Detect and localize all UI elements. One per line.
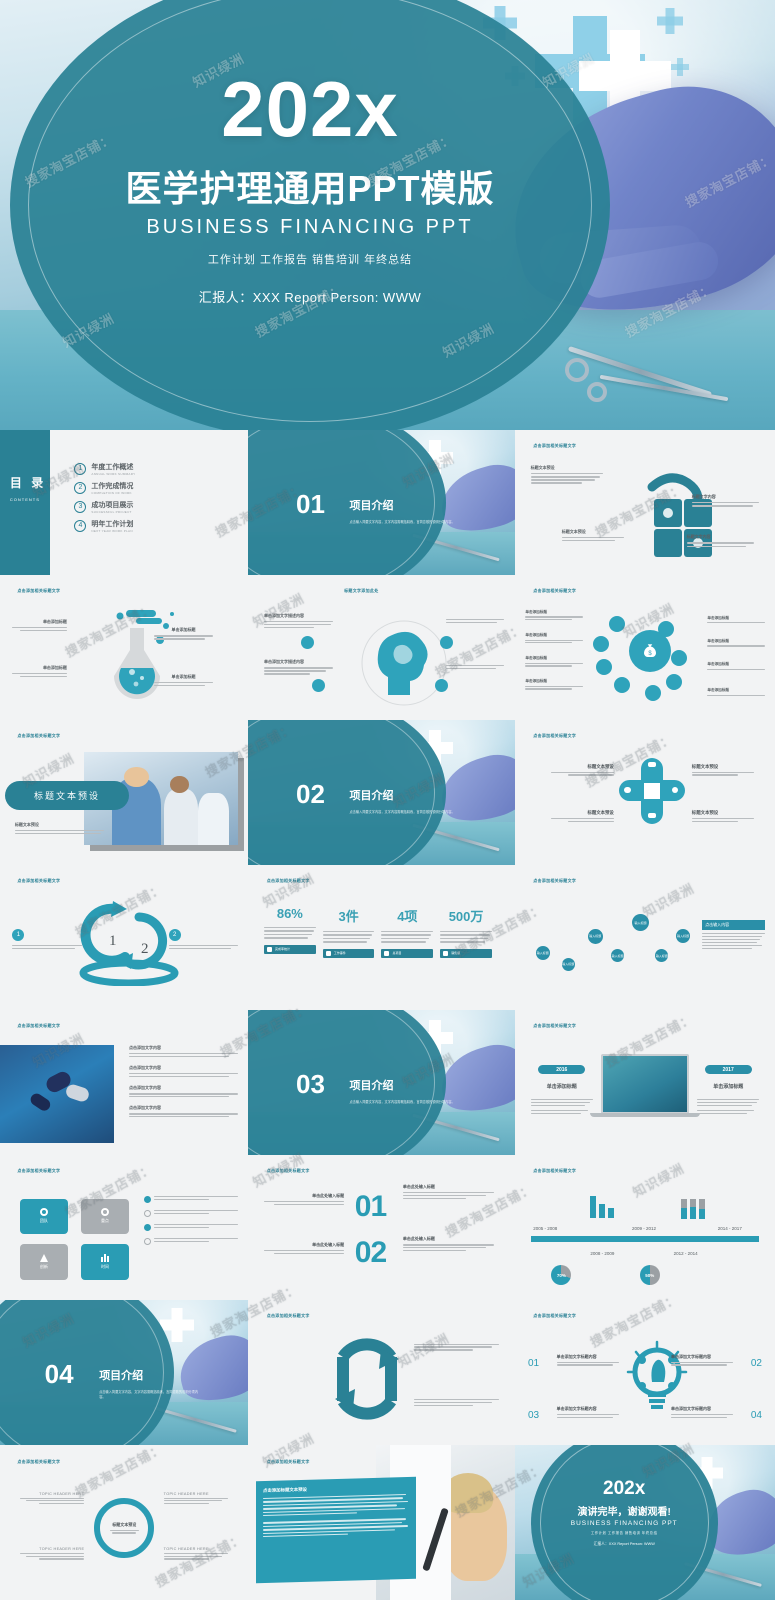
divider-ring	[248, 1010, 435, 1155]
slide-title: 点击添加相关标题文字	[17, 1168, 60, 1174]
card-icon	[645, 685, 661, 701]
book-icon	[614, 677, 630, 693]
contents-heading: 目 录	[10, 474, 46, 491]
bignum-text: 单击此处输入标题	[264, 1242, 344, 1254]
radial-label-text: 单击添加标题	[525, 679, 582, 684]
cross-label-group: 标题文本预设	[551, 810, 613, 822]
plus-icon	[144, 1196, 151, 1203]
bar	[690, 1199, 696, 1219]
section-number: 04	[45, 1361, 74, 1387]
pills-item-heading: 点击添加文字内容	[129, 1105, 238, 1111]
search-icon	[101, 1208, 109, 1216]
circular-arrow-icon	[317, 1329, 417, 1429]
thumbnail-row: 点击添加相关标题文字 标题文本预设 标题文本预设	[0, 720, 775, 865]
puzzle-label: 标题文字内容	[687, 534, 755, 540]
section-label: 项目介绍	[99, 1367, 143, 1383]
flask-label: 单击添加标题	[12, 665, 67, 671]
balloon-node[interactable]: 输入标题	[611, 949, 624, 962]
laptop-base	[590, 1113, 699, 1117]
year-badge-2016[interactable]: 2016	[538, 1065, 585, 1074]
slide-pills-photo[interactable]: 点击添加相关标题文字 点击添加文字内容 点击添加文字内容 点击添加文字内容	[0, 1010, 248, 1155]
quadrant-grid: 团队 重点 创新	[20, 1199, 129, 1280]
section-label: 项目介绍	[349, 1077, 393, 1093]
flask-label-group: 单击添加标题	[154, 627, 214, 640]
flask-label-group: 单击添加标题	[12, 665, 67, 678]
flask-label: 单击添加标题	[154, 627, 214, 633]
medical-cross-icon	[657, 8, 683, 34]
balloon-node[interactable]: 输入标题	[655, 949, 668, 962]
slide-section-02[interactable]: 02 项目介绍 点击输入简要文字内容，文字内容需概括精炼，言简意赅的说明分项内容…	[248, 720, 515, 865]
toc-label: 工作完成情况	[91, 481, 133, 491]
divider-ring	[248, 430, 435, 575]
ppt-template-preview: 202x 医学护理通用PPT模版 BUSINESS FINANCING PPT …	[0, 0, 775, 1600]
cross-label: 标题文本预设	[692, 810, 754, 816]
puzzle-label-group: 标题文本预设	[562, 529, 624, 542]
bar-group-right	[681, 1199, 705, 1219]
cross-label: 标题文本预设	[692, 764, 754, 770]
medical-cross-icon	[644, 783, 660, 799]
gear-icon	[671, 650, 687, 666]
calculator-icon	[609, 616, 625, 632]
badge-number: 1	[12, 929, 24, 941]
slide-title: 点击添加相关标题文字	[17, 1459, 60, 1465]
radial-label: 单击添加标题	[525, 679, 582, 689]
slide-puzzle-infographic[interactable]: 点击添加相关标题文字 标题文本预设	[515, 430, 775, 575]
radial-label-text: 单击添加标题	[525, 610, 582, 615]
bulb-heading: 单击添加文字标题内容	[671, 1406, 733, 1412]
section-number: 03	[296, 1071, 325, 1097]
quadrant-cell-team[interactable]: 团队	[20, 1199, 68, 1235]
toc-number: 4	[74, 520, 86, 532]
smile-icon	[624, 787, 631, 794]
stat-button[interactable]: 完成率统计	[264, 945, 316, 954]
flask-label: 单击添加标题	[12, 619, 67, 625]
big-number-01: 01	[355, 1193, 386, 1220]
balloon-side-panel: 点击输入内容	[702, 920, 764, 949]
closing-year: 202x	[531, 1479, 718, 1498]
slide-key-stats[interactable]: 点击添加相关标题文字 86% 完成率统计	[248, 865, 515, 1010]
list-item[interactable]	[144, 1238, 238, 1245]
divider-ring	[248, 720, 435, 865]
quadrant-label: 团队	[40, 1218, 48, 1224]
slide-closing[interactable]: 202x 演讲完毕，谢谢观看! BUSINESS FINANCING PPT 工…	[515, 1445, 775, 1600]
topics-center-label: 标题文本预设	[112, 1522, 136, 1528]
radial-label: 单击添加标题	[525, 633, 582, 643]
section-description: 点击输入简要文字内容，文字内容需概括精炼，言简意赅的说明分项内容。	[349, 1100, 472, 1105]
bignum-heading: 单击此处输入标题	[264, 1242, 344, 1248]
laptop-screen-photo	[603, 1056, 687, 1113]
bar	[699, 1199, 705, 1219]
radial-label: 单击添加标题	[525, 656, 582, 666]
bulb-heading: 单击添加文字标题内容	[671, 1354, 733, 1360]
brain-label-group	[446, 665, 505, 670]
balloon-node[interactable]: 输入标题	[536, 946, 550, 960]
flask-label-group: 单击添加标题	[12, 619, 67, 632]
slide-dual-arrows[interactable]: 点击添加相关标题文字 1 2 1 2	[0, 865, 248, 1010]
toc-label-en: COMPLETION OF WORK	[91, 491, 133, 495]
quadrant-cell-focus[interactable]: 重点	[81, 1199, 129, 1235]
stat-icon	[326, 951, 331, 956]
bulb-text: 单击添加文字标题内容	[671, 1354, 733, 1366]
toc-label: 明年工作计划	[91, 519, 133, 529]
bulb-number: 02	[751, 1358, 762, 1369]
title-pill-label: 标题文本预设	[34, 789, 100, 802]
slide-big-numbers[interactable]: 点击添加相关标题文字 01 02 单击此处输入标题 单击此处输入标题 单击此处输…	[248, 1155, 515, 1300]
brain-label: 单击添加文字描述内容	[264, 613, 333, 619]
photo-caption-text: 标题文本预设	[15, 822, 104, 828]
section-description: 点击输入简要文字内容，文字内容需概括精炼，言简意赅的说明分项内容。	[349, 810, 472, 815]
balloon-node[interactable]: 输入标题	[588, 929, 603, 944]
slide-cross-infographic[interactable]: 点击添加相关标题文字 标题文本预设 标题文本预设	[515, 720, 775, 865]
bulb-number: 03	[528, 1410, 539, 1421]
photo-caption: 标题文本预设	[15, 822, 104, 835]
puzzle-label: 标题文本预设	[531, 465, 604, 471]
toc-label: 年度工作概述	[91, 462, 135, 472]
timeline-axis	[531, 1236, 760, 1242]
cross-diagram	[619, 758, 685, 824]
pills-item-heading: 点击添加文字内容	[129, 1085, 238, 1091]
slide-quadrant-matrix[interactable]: 点击添加相关标题文字 团队 重点 创新	[0, 1155, 248, 1300]
stat-button-label: 完成率统计	[275, 947, 290, 951]
stat-button-label: 总项目	[392, 951, 401, 955]
cross-label-group: 标题文本预设	[692, 764, 754, 776]
closing-subtitle: BUSINESS FINANCING PPT	[531, 1520, 718, 1527]
slide-title: 点击添加相关标题文字	[267, 878, 310, 884]
pharma-photo	[0, 1045, 114, 1144]
circle-icon	[144, 1210, 151, 1217]
topic-heading: TOPIC HEADER HERE	[164, 1547, 228, 1551]
list-item[interactable]: 3 成功项目展示 SUCCESSFUL PROJECT	[74, 500, 135, 514]
section-label: 项目介绍	[349, 787, 393, 803]
topic-heading: TOPIC HEADER HERE	[20, 1492, 84, 1496]
pills-item-heading: 点击添加文字内容	[129, 1065, 238, 1071]
slide-title: 点击添加相关标题文字	[533, 1313, 576, 1319]
arrow-callout: 1	[12, 929, 81, 950]
bar	[599, 1204, 605, 1218]
slide-title: 点击添加相关标题文字	[17, 1023, 60, 1029]
hero-text-block: 202x 医学护理通用PPT模版 BUSINESS FINANCING PPT …	[0, 70, 620, 306]
bank-icon	[658, 621, 674, 637]
radial-label: 单击添加标题	[525, 610, 582, 620]
panel-heading: 点击添加标题文本预设	[263, 1484, 409, 1494]
thumbnail-row: 目 录 CONTENTS 1 年度工作概述 ANNUAL WORK SUMMAR…	[0, 430, 775, 575]
radial-label-text: 单击添加标题	[525, 656, 582, 661]
bar-group-left	[590, 1196, 614, 1218]
slide-doctor-panel[interactable]: 点击添加相关标题文字 点击添加标题文本预设	[248, 1445, 515, 1600]
bulb-number: 01	[528, 1358, 539, 1369]
search-icon	[301, 636, 314, 649]
slide-title: 点击添加相关标题文字	[533, 878, 576, 884]
stat-button[interactable]: 总项目	[381, 949, 433, 958]
thumbnail-row: 04 项目介绍 点击输入简要文字内容，文字内容需概括精炼，言简意赅的说明分项内容…	[0, 1300, 775, 1445]
toc-label-en: NEXT YEAR WORK PLAN	[91, 529, 133, 533]
arrow-callout: 2	[169, 929, 238, 950]
list-item[interactable]: 4 明年工作计划 NEXT YEAR WORK PLAN	[74, 519, 135, 533]
thumbnail-row: 点击添加相关标题文字 团队 重点 创新	[0, 1155, 775, 1300]
topic-heading: TOPIC HEADER HERE	[164, 1492, 228, 1496]
closing-text: 202x 演讲完毕，谢谢观看! BUSINESS FINANCING PPT 工…	[531, 1479, 718, 1547]
period-label: 2012 - 2014	[674, 1251, 698, 1256]
brain-label: 单击添加文字描述内容	[264, 659, 333, 665]
twitter-icon	[648, 762, 656, 767]
slide-team-photo[interactable]: 点击添加相关标题文字 标题文本预设 标题文本预设	[0, 720, 248, 865]
person-icon	[312, 679, 325, 692]
balloon-node[interactable]: 输入标题	[676, 929, 690, 943]
topic-heading: TOPIC HEADER HERE	[20, 1547, 84, 1551]
bignum-text: 单击此处输入标题	[264, 1193, 344, 1205]
medical-cross-icon	[671, 58, 689, 76]
section-number: 01	[296, 491, 325, 517]
topic-block: TOPIC HEADER HERE	[20, 1492, 84, 1504]
radial-label-text: 单击添加标题	[707, 616, 764, 621]
contents-sidebar	[0, 430, 50, 575]
slide-section-04[interactable]: 04 项目介绍 点击输入简要文字内容，文字内容需概括精炼，言简意赅的说明分项内容…	[0, 1300, 248, 1445]
balloon-node[interactable]: 输入标题	[562, 958, 575, 971]
plus-icon	[144, 1224, 151, 1231]
slide-title: 点击添加相关标题文字	[267, 1313, 310, 1319]
slide-title: 点击添加相关标题文字	[533, 443, 576, 449]
toc-number: 2	[74, 482, 86, 494]
head-brain-icon	[344, 607, 464, 715]
puzzle-label: 标题文本预设	[562, 529, 624, 535]
hero-presenter: 汇报人：XXX Report Person: WWW	[0, 287, 620, 306]
section-label: 项目介绍	[349, 497, 393, 513]
slide-brain-infographic[interactable]: 标题文字添加此处 单击添加文字描述内容 单击添加文字描述内容	[248, 575, 515, 720]
quadrant-label: 重点	[101, 1218, 109, 1224]
flask-label-group: 单击添加标题	[154, 674, 214, 687]
slide-title: 点击添加相关标题文字	[533, 1023, 576, 1029]
slide-thumbnail-grid: 目 录 CONTENTS 1 年度工作概述 ANNUAL WORK SUMMAR…	[0, 430, 775, 1600]
topics-ring: 标题文本预设	[94, 1498, 154, 1558]
puzzle-label-group: 标题文字内容	[692, 494, 760, 507]
slide-circle-topics[interactable]: 点击添加相关标题文字 标题文本预设 TOPIC HEADER HERE TOPI…	[0, 1445, 248, 1600]
stat-value: 86%	[264, 906, 316, 921]
contents-list: 1 年度工作概述 ANNUAL WORK SUMMARY 2 工作完成情况 CO…	[74, 462, 135, 538]
closing-tags: 工作计划 工作报告 销售培训 年终总结	[531, 1530, 718, 1535]
circle-icon	[144, 1238, 151, 1245]
scissors-ring-icon	[565, 358, 589, 382]
period-label: 2008 - 2009	[590, 1251, 614, 1256]
cycle-text	[414, 1399, 499, 1406]
radial-label: 单击添加标题	[707, 616, 764, 624]
topic-block: TOPIC HEADER HERE	[164, 1547, 228, 1559]
hero-subtitle: BUSINESS FINANCING PPT	[0, 216, 620, 239]
stat-card[interactable]: 3件 工作事件	[323, 906, 375, 958]
closing-presenter: 汇报人：XXX Report Person: WWW	[531, 1542, 718, 1547]
bar	[608, 1208, 614, 1218]
list-item[interactable]	[144, 1224, 238, 1231]
puzzle-diagram-icon	[624, 465, 734, 565]
radial-label-text: 单击添加标题	[707, 688, 764, 693]
slide-radial-hub[interactable]: 点击添加相关标题文字 $ 单击添加标题	[515, 575, 775, 720]
slide-flask-infographic[interactable]: 点击添加相关标题文字 单击添加标题	[0, 575, 248, 720]
bar	[681, 1199, 687, 1219]
bulb-number: 04	[751, 1410, 762, 1421]
slide-title: 点击添加相关标题文字	[533, 588, 576, 594]
pie-label: 50%	[645, 1273, 654, 1278]
hero-tags: 工作计划 工作报告 销售培训 年终总结	[0, 251, 620, 267]
cycle-text	[414, 1344, 499, 1351]
slide-title: 点击添加相关标题文字	[267, 1459, 310, 1465]
hero-title: 医学护理通用PPT模版	[0, 160, 620, 212]
panel-heading: 点击输入内容	[702, 920, 764, 930]
bignum-text: 单击此处输入标题	[403, 1184, 494, 1199]
stat-button-label: 销售额	[451, 951, 460, 955]
team-icon	[40, 1208, 48, 1216]
chart-icon	[101, 1254, 109, 1262]
period-label: 2005 - 2008	[533, 1226, 557, 1231]
closing-thanks: 演讲完毕，谢谢观看!	[531, 1503, 718, 1518]
laptop-mockup	[601, 1054, 689, 1115]
slide-contents[interactable]: 目 录 CONTENTS 1 年度工作概述 ANNUAL WORK SUMMAR…	[0, 430, 248, 575]
cross-label: 标题文本预设	[551, 764, 613, 770]
search-icon	[593, 636, 609, 652]
balloon-node[interactable]: 输入标题	[632, 914, 649, 931]
scissors-ring-icon	[587, 382, 607, 402]
slide-balloon-chart[interactable]: 点击添加相关标题文字 输入标题 输入标题 输入标题 输入标题 输入标题 输入标题…	[515, 865, 775, 1010]
radial-label-text: 单击添加标题	[525, 633, 582, 638]
pie-label: 70%	[557, 1273, 566, 1278]
year-badge-2017[interactable]: 2017	[705, 1065, 752, 1074]
bulb-heading: 单击添加文字标题内容	[557, 1406, 619, 1412]
timeline-heading: 单击添加标题	[531, 1083, 593, 1090]
rocket-icon	[40, 1254, 48, 1262]
puzzle-label: 标题文字内容	[692, 494, 760, 500]
slide-title: 点击添加相关标题文字	[17, 588, 60, 594]
title-pill[interactable]: 标题文本预设	[5, 781, 129, 810]
bulb-text: 单击添加文字标题内容	[671, 1406, 733, 1418]
quadrant-cell-time[interactable]: 时间	[81, 1244, 129, 1280]
thumbnail-row: 点击添加相关标题文字 单击添加标题	[0, 575, 775, 720]
stat-icon	[384, 951, 389, 956]
bar	[590, 1196, 596, 1218]
stat-card[interactable]: 86% 完成率统计	[264, 906, 316, 958]
quadrant-label: 创新	[40, 1264, 48, 1270]
pie-chart-50: 50%	[640, 1265, 660, 1285]
bignum-text: 单击此处输入标题	[403, 1236, 494, 1251]
quadrant-label: 时间	[101, 1264, 109, 1270]
cross-label-group: 标题文本预设	[692, 810, 754, 822]
slide-timeline-bar-chart[interactable]: 点击添加相关标题文字 2005 - 2008 2008 - 2009 2009 …	[515, 1155, 775, 1300]
stat-card[interactable]: 4项 总项目	[381, 906, 433, 958]
list-item[interactable]	[144, 1196, 238, 1203]
stat-icon	[443, 951, 448, 956]
stat-card[interactable]: 500万 销售额	[440, 906, 492, 958]
hero-slide[interactable]: 202x 医学护理通用PPT模版 BUSINESS FINANCING PPT …	[0, 0, 775, 430]
stat-value: 4项	[381, 906, 433, 925]
slide-cycle-diagram[interactable]: 点击添加相关标题文字	[248, 1300, 515, 1445]
stat-button[interactable]: 工作事件	[323, 949, 375, 958]
stat-card-row: 86% 完成率统计 3件	[264, 906, 499, 958]
slide-title: 点击添加相关标题文字	[267, 1168, 310, 1174]
radial-label-text: 单击添加标题	[707, 662, 764, 667]
stat-value: 500万	[440, 906, 492, 925]
bulb-text: 单击添加文字标题内容	[557, 1354, 619, 1366]
topic-block: TOPIC HEADER HERE	[20, 1547, 84, 1559]
tools-icon	[666, 674, 682, 690]
slide-title: 点击添加相关标题文字	[17, 733, 60, 739]
bignum-heading: 单击此处输入标题	[403, 1184, 494, 1190]
contents-heading-en: CONTENTS	[10, 497, 40, 502]
pills-item-heading: 点击添加文字内容	[129, 1045, 238, 1051]
slide-lightbulb[interactable]: 点击添加相关标题文字 01 单击添加文字标题内容	[515, 1300, 775, 1445]
toc-label-en: ANNUAL WORK SUMMARY	[91, 472, 135, 476]
svg-text:1: 1	[109, 933, 117, 949]
stat-value: 3件	[323, 906, 375, 925]
toc-number: 1	[74, 463, 86, 475]
slide-laptop-timeline[interactable]: 点击添加相关标题文字 2016 单击添加标题 2017 单击添加标题	[515, 1010, 775, 1155]
period-label: 2009 - 2012	[632, 1226, 656, 1231]
teal-text-panel: 点击添加标题文本预设	[256, 1477, 416, 1584]
brain-label-group: 单击添加文字描述内容	[264, 613, 333, 629]
toc-label: 成功项目展示	[91, 500, 133, 510]
flask-icon	[84, 604, 194, 704]
big-number-02: 02	[355, 1239, 386, 1266]
badge-number: 2	[169, 929, 181, 941]
cross-label-group: 标题文本预设	[551, 764, 613, 776]
flask-label: 单击添加标题	[154, 674, 214, 680]
money-bag-icon: $	[641, 642, 659, 660]
puzzle-label-group: 标题文本预设	[531, 465, 604, 484]
timeline-heading: 单击添加标题	[697, 1083, 759, 1090]
section-description: 点击输入简要文字内容，文字内容需概括精炼，言简意赅的说明分项内容。	[349, 520, 472, 525]
bulb-heading: 单击添加文字标题内容	[557, 1354, 619, 1360]
thumbnail-row: 点击添加相关标题文字 标题文本预设 TOPIC HEADER HERE TOPI…	[0, 1445, 775, 1600]
list-item[interactable]: 2 工作完成情况 COMPLETION OF WORK	[74, 481, 135, 495]
radial-label-text: 单击添加标题	[707, 639, 764, 644]
brain-label-group: 单击添加文字描述内容	[264, 659, 333, 675]
hero-year: 202x	[0, 70, 620, 148]
vimeo-icon	[648, 813, 656, 818]
bignum-heading: 单击此处输入标题	[403, 1236, 494, 1242]
clock-icon	[596, 659, 612, 675]
topic-block: TOPIC HEADER HERE	[164, 1492, 228, 1504]
stat-button-label: 工作事件	[334, 951, 346, 955]
brain-label-group	[446, 619, 505, 624]
slide-title: 标题文字添加此处	[344, 588, 378, 594]
bulb-text: 单击添加文字标题内容	[557, 1406, 619, 1418]
puzzle-label-group: 标题文字内容	[687, 534, 755, 547]
radial-label: 单击添加标题	[707, 662, 764, 670]
period-label: 2014 - 2017	[718, 1226, 742, 1231]
slide-title: 点击添加相关标题文字	[533, 733, 576, 739]
quadrant-text-list	[144, 1196, 238, 1245]
stat-icon	[267, 947, 272, 952]
slide-section-03[interactable]: 03 项目介绍 点击输入简要文字内容，文字内容需概括精炼，言简意赅的说明分项内容…	[248, 1010, 515, 1155]
stat-button[interactable]: 销售额	[440, 949, 492, 958]
pills-text-list: 点击添加文字内容 点击添加文字内容 点击添加文字内容 点击添加文字内容	[129, 1045, 238, 1118]
toc-label-en: SUCCESSFUL PROJECT	[91, 510, 133, 514]
radial-label: 单击添加标题	[707, 639, 764, 647]
list-item[interactable]: 1 年度工作概述 ANNUAL WORK SUMMARY	[74, 462, 135, 476]
list-item[interactable]	[144, 1210, 238, 1217]
toc-number: 3	[74, 501, 86, 513]
svg-text:2: 2	[141, 941, 149, 957]
slide-title: 点击添加相关标题文字	[17, 878, 60, 884]
radial-label: 单击添加标题	[707, 688, 764, 696]
cross-label: 标题文本预设	[551, 810, 613, 816]
slide-title: 点击添加相关标题文字	[533, 1168, 576, 1174]
section-description: 点击输入简要文字内容，文字内容需概括精炼，言简意赅的说明分项内容。	[99, 1390, 198, 1400]
slide-section-01[interactable]: 01 项目介绍 点击输入简要文字内容，文字内容需概括精炼，言简意赅的说明分项内容…	[248, 430, 515, 575]
thumbnail-row: 点击添加相关标题文字 点击添加文字内容 点击添加文字内容 点击添加文字内容	[0, 1010, 775, 1155]
thumbnail-row: 点击添加相关标题文字 1 2 1 2	[0, 865, 775, 1010]
quadrant-cell-innovation[interactable]: 创新	[20, 1244, 68, 1280]
bignum-heading: 单击此处输入标题	[264, 1193, 344, 1199]
section-number: 02	[296, 781, 325, 807]
pie-chart-70: 70%	[551, 1265, 571, 1285]
